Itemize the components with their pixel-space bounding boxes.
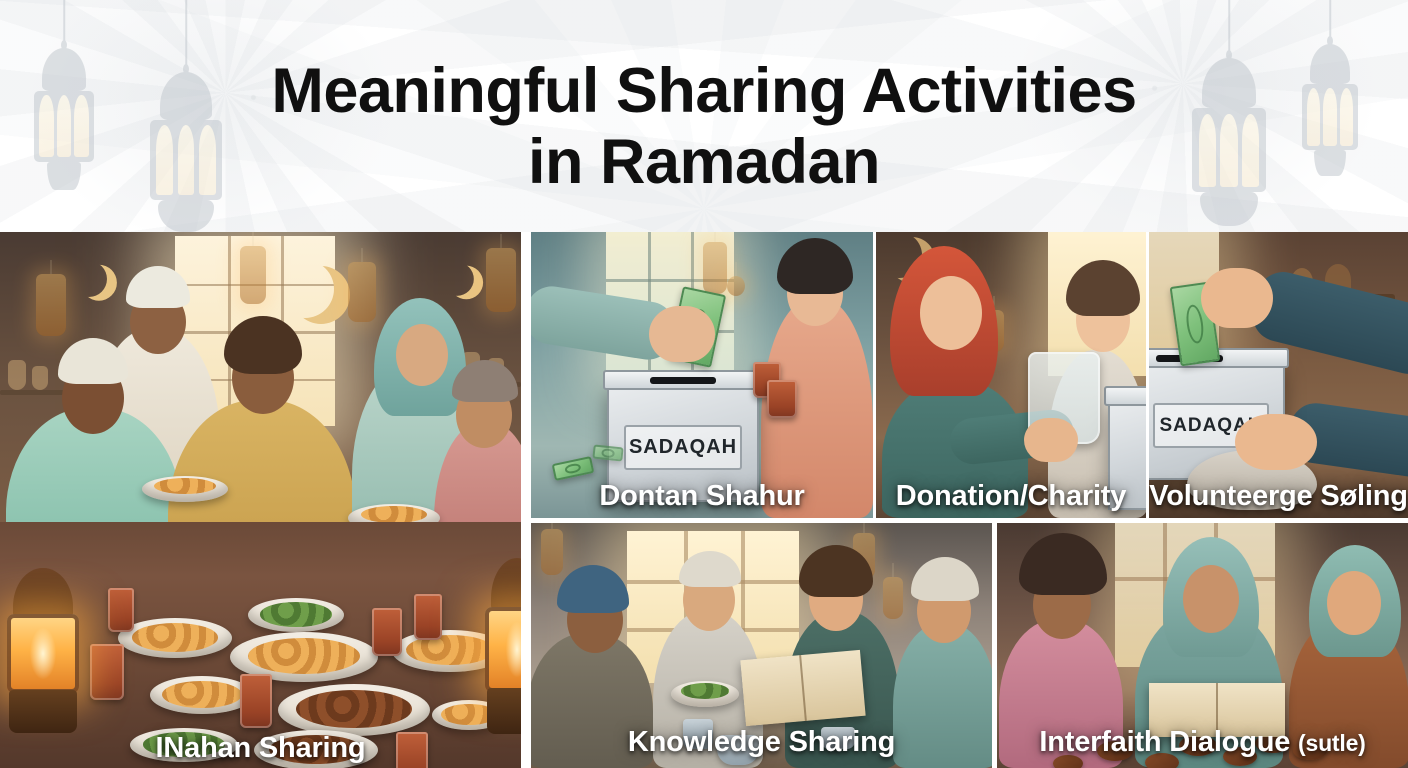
panel-divider xyxy=(1146,232,1149,518)
hand xyxy=(1235,414,1317,470)
panel-grid: INahan Sharing xyxy=(0,232,1408,768)
table-lantern-icon xyxy=(6,568,80,733)
tea-glass xyxy=(108,588,134,632)
sadaqah-box-label: SADAQAH xyxy=(624,425,742,471)
hair xyxy=(1019,533,1107,595)
caption-note: (sutle) xyxy=(1298,730,1366,756)
panel-iftar[interactable]: INahan Sharing xyxy=(0,232,521,768)
panel-caption-interfaith: Interfaith Dialogue (sutle) xyxy=(997,728,1408,762)
panel-caption-donation: Donation/Charity xyxy=(876,482,1146,516)
hand xyxy=(1024,418,1078,462)
bowl-of-food xyxy=(118,618,232,658)
hair xyxy=(777,238,853,294)
banknote-icon xyxy=(552,456,595,481)
head-wrap-icon xyxy=(557,565,629,613)
panel-donation-charity[interactable]: Donation/Charity xyxy=(876,232,1146,518)
scene-lantern-icon xyxy=(883,577,903,619)
crescent-moon-icon xyxy=(440,262,474,296)
scene-lantern-icon xyxy=(486,248,516,312)
taqiyah-cap-icon xyxy=(58,338,128,384)
face xyxy=(396,324,448,386)
panel-caption-volunteer: Volunteerge Søling xyxy=(1149,482,1408,516)
jar xyxy=(32,366,48,390)
scene-lantern-icon xyxy=(36,274,66,336)
tea-glass xyxy=(90,644,124,700)
coin-slot xyxy=(650,377,715,384)
panel-divider xyxy=(531,518,1408,523)
plate-of-food xyxy=(142,476,228,502)
panel-knowledge-sharing[interactable]: Knowledge Sharing xyxy=(531,523,992,768)
bowl-of-food xyxy=(248,598,344,632)
title-line-2: in Ramadan xyxy=(0,127,1408,198)
hand xyxy=(649,306,715,362)
panel-caption-knowledge: Knowledge Sharing xyxy=(531,728,992,762)
open-book-icon xyxy=(740,650,865,726)
taqiyah-cap-icon xyxy=(911,557,979,601)
crescent-moon-icon xyxy=(71,261,107,297)
tea-glass xyxy=(372,608,402,656)
scene-lantern-icon xyxy=(348,262,376,322)
hanging-ornament-icon xyxy=(727,276,745,296)
table-lantern-icon xyxy=(484,558,521,734)
panel-caption-iftar: INahan Sharing xyxy=(0,734,521,768)
panel-interfaith-dialogue[interactable]: Interfaith Dialogue (sutle) xyxy=(997,523,1408,768)
scene-lantern-icon xyxy=(703,242,727,294)
panel-divider xyxy=(521,232,531,768)
panel-divider xyxy=(873,232,876,518)
face xyxy=(1327,571,1381,635)
tea-glass xyxy=(767,380,797,418)
caption-text: INahan Sharing xyxy=(156,732,366,764)
tea-glass xyxy=(240,674,272,728)
panel-volunteer[interactable]: SADAQAH Volunteerge Søling xyxy=(1149,232,1408,518)
panel-caption-sadaqah: Dontan Shahur xyxy=(531,482,873,516)
poster-root: Meaningful Sharing Activities in Ramadan xyxy=(0,0,1408,768)
caption-text: Interfaith Dialogue xyxy=(1039,726,1290,758)
crescent-moon-icon xyxy=(276,260,334,318)
tea-glass xyxy=(414,594,442,640)
hand xyxy=(1201,268,1273,328)
page-title: Meaningful Sharing Activities in Ramadan xyxy=(0,56,1408,198)
jar xyxy=(8,360,26,390)
face xyxy=(1183,565,1239,633)
caption-text: Dontan Shahur xyxy=(599,480,804,512)
banknote-icon xyxy=(592,444,623,461)
title-line-1: Meaningful Sharing Activities xyxy=(271,56,1136,126)
caption-text: Knowledge Sharing xyxy=(628,726,895,758)
panel-sadaqah-box[interactable]: SADAQAH Dontan Shahur xyxy=(531,232,873,518)
caption-text: Volunteerge Søling xyxy=(1149,480,1408,512)
caption-text: Donation/Charity xyxy=(896,480,1126,512)
face xyxy=(920,276,982,350)
plate-of-dates xyxy=(671,681,739,707)
poster-header: Meaningful Sharing Activities in Ramadan xyxy=(0,0,1408,232)
scene-lantern-icon xyxy=(541,529,563,575)
bowl-of-food xyxy=(150,676,254,714)
scene-lantern-icon xyxy=(240,246,266,304)
platter-of-dates xyxy=(278,684,430,736)
